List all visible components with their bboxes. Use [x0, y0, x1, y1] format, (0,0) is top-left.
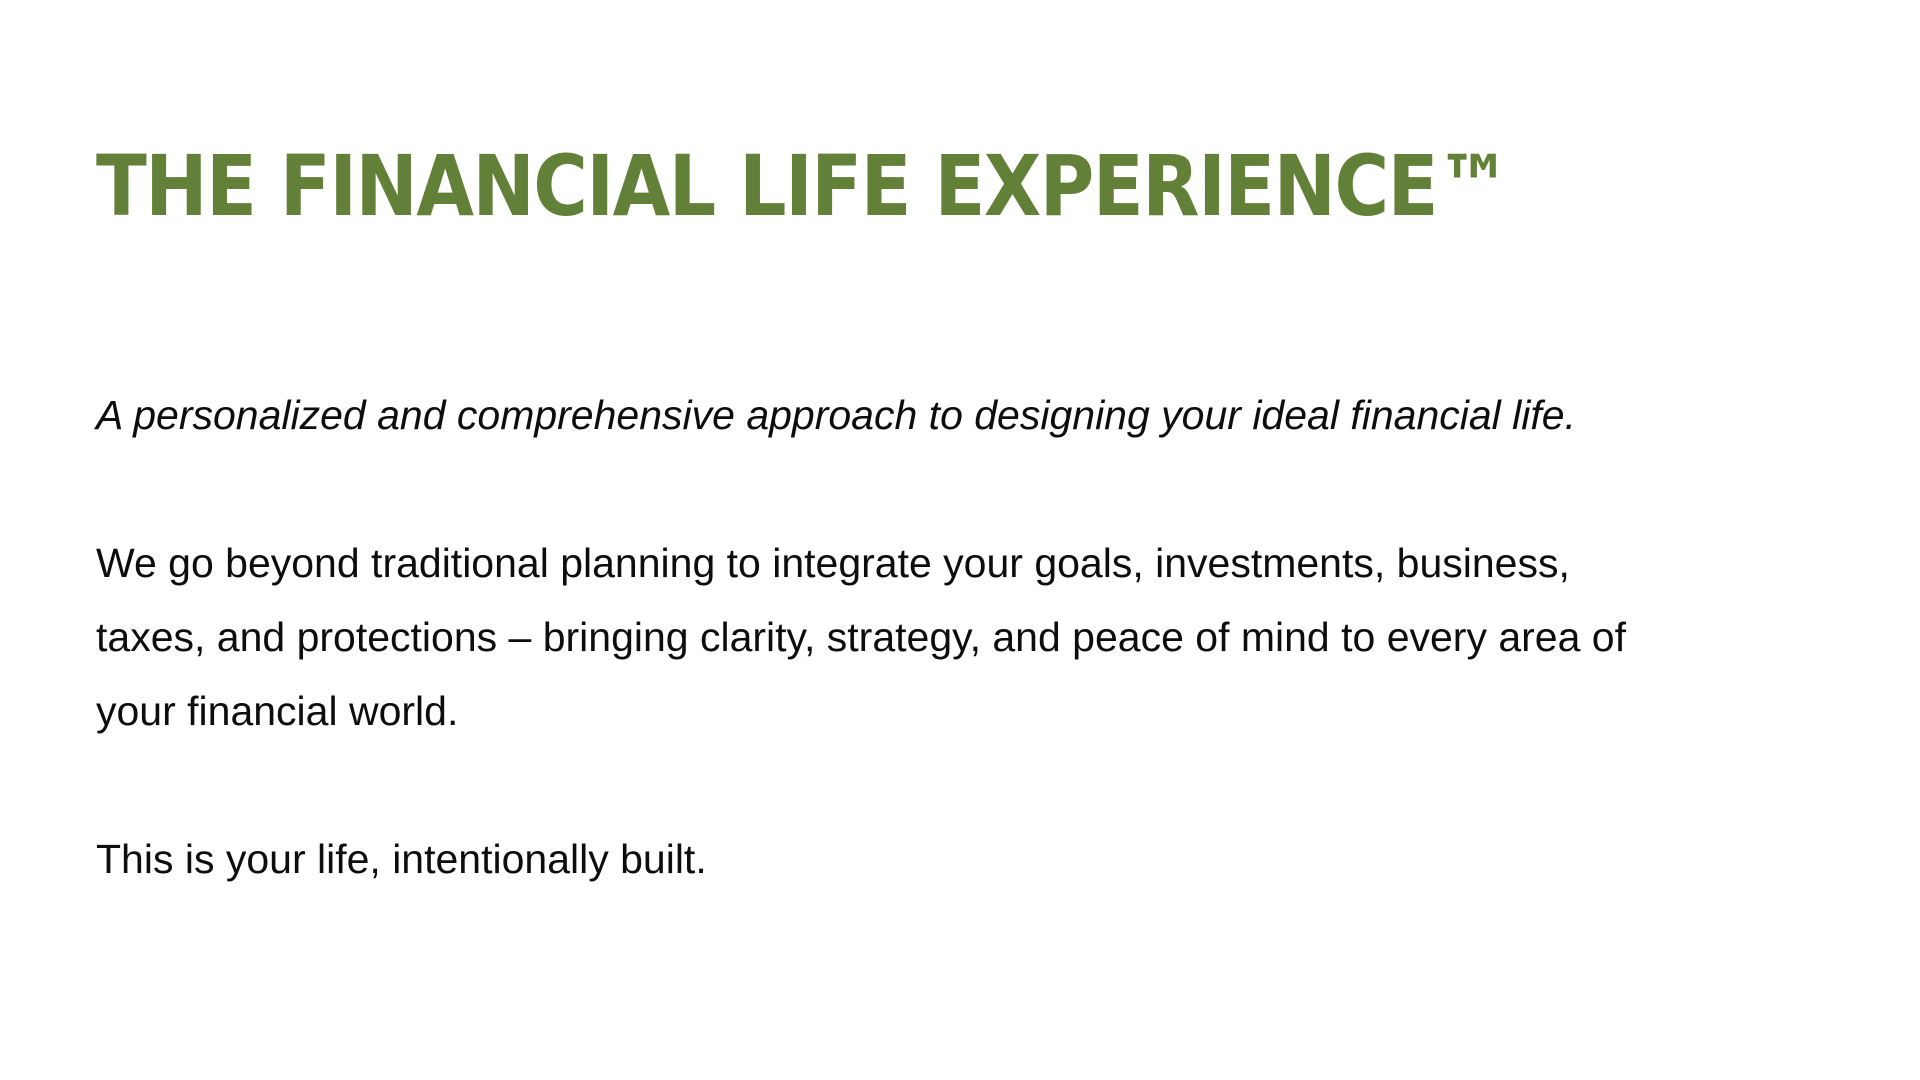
body-line-3: your financial world.: [96, 674, 1796, 748]
body-line-1: We go beyond traditional planning to int…: [96, 526, 1796, 600]
body-line-2: taxes, and protections – bringing clarit…: [96, 600, 1796, 674]
closing-statement: This is your life, intentionally built.: [96, 822, 1796, 896]
page-title: THE FINANCIAL LIFE EXPERIENCE™: [96, 144, 1830, 228]
body-paragraph: We go beyond traditional planning to int…: [96, 526, 1796, 748]
paragraph-spacer-2: [96, 748, 1796, 822]
lead-subtitle: A personalized and comprehensive approac…: [96, 378, 1796, 452]
slide-body: A personalized and comprehensive approac…: [96, 378, 1796, 896]
paragraph-spacer-1: [96, 452, 1796, 526]
slide-canvas: THE FINANCIAL LIFE EXPERIENCE™ A persona…: [0, 0, 1920, 1080]
